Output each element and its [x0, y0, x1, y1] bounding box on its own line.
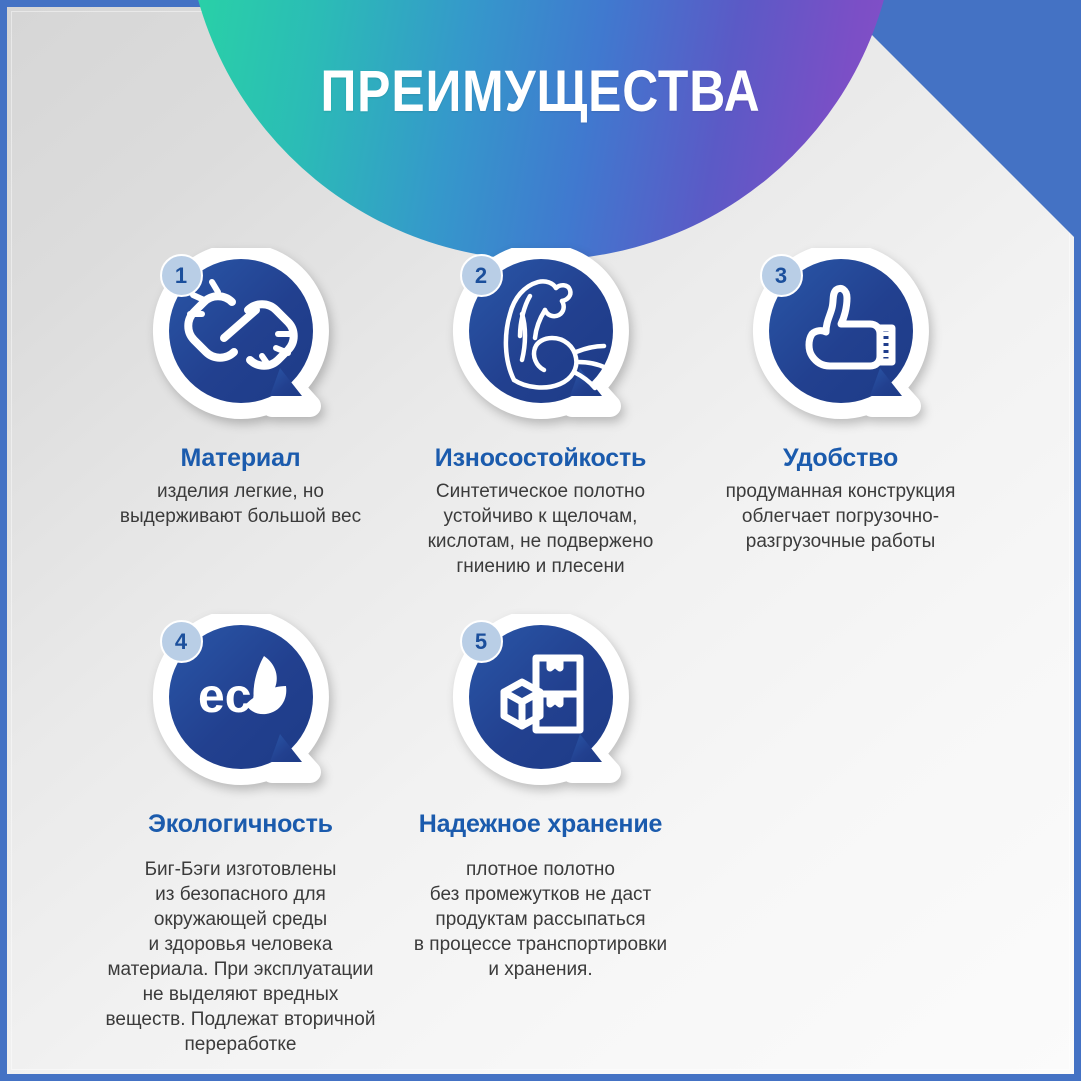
benefit-number-badge-3: 3: [760, 254, 803, 297]
benefit-number-badge-2: 2: [460, 254, 503, 297]
benefit-icon-wrap-1: 1: [152, 248, 330, 428]
benefit-card-5: 5 Надежное хранение плотное полотно без …: [391, 614, 691, 1057]
benefit-description-3: продуманная конструкция облегчает погруз…: [726, 479, 956, 554]
benefit-description-line: изделия легкие, но: [120, 479, 361, 504]
benefit-number-badge-5: 5: [460, 620, 503, 663]
benefits-row-top: 1 Материал изделия легкие, но выдерживаю…: [0, 248, 1081, 579]
benefit-description-line: веществ. Подлежат вторичной: [106, 1007, 376, 1032]
eco-icon-label: eco: [198, 670, 281, 723]
benefit-description-line: продуманная конструкция: [726, 479, 956, 504]
benefit-card-2: 2 Износостойкость Синтетическое полотно …: [391, 248, 691, 579]
benefit-icon-wrap-3: 3: [752, 248, 930, 428]
benefit-description-line: разгрузочные работы: [726, 529, 956, 554]
benefit-title-4: Экологичность: [148, 810, 333, 840]
benefit-description-line: Биг-Бэги изготовлены: [106, 857, 376, 882]
benefit-title-5: Надежное хранение: [419, 810, 662, 840]
benefit-number-badge-1: 1: [160, 254, 203, 297]
benefit-card-3: 3 Удобство продуманная конструкция облег…: [691, 248, 991, 579]
benefits-row-bottom: eco 4 Экологичность Биг-Бэги изготовлены…: [0, 614, 1081, 1057]
page-title: ПРЕИМУЩЕСТВА: [76, 58, 1006, 125]
benefit-card-4: eco 4 Экологичность Биг-Бэги изготовлены…: [91, 614, 391, 1057]
benefit-description-line: плотное полотно: [414, 857, 667, 882]
benefit-description-line: продуктам рассыпаться: [414, 907, 667, 932]
benefit-description-line: и здоровья человека: [106, 932, 376, 957]
benefit-number-badge-4: 4: [160, 620, 203, 663]
benefit-description-line: материала. При эксплуатации: [106, 957, 376, 982]
benefit-description-line: окружающей среды: [106, 907, 376, 932]
benefit-description-line: Синтетическое полотно: [428, 479, 654, 504]
benefit-icon-wrap-5: 5: [452, 614, 630, 794]
benefit-description-line: переработке: [106, 1032, 376, 1057]
benefit-title-line: хранение: [547, 810, 662, 838]
benefit-description-4: Биг-Бэги изготовлены из безопасного для …: [106, 857, 376, 1058]
benefit-description-line: выдерживают большой вес: [120, 504, 361, 529]
benefit-description-line: в процессе транспортировки: [414, 932, 667, 957]
benefit-description-line: гниению и плесени: [428, 554, 654, 579]
benefit-description-5: плотное полотно без промежутков не даст …: [414, 857, 667, 982]
benefit-description-2: Синтетическое полотно устойчиво к щелоча…: [428, 479, 654, 579]
benefit-description-line: не выделяют вредных: [106, 982, 376, 1007]
benefit-description-line: без промежутков не даст: [414, 882, 667, 907]
benefit-title-3: Удобство: [783, 444, 898, 474]
benefit-description-line: и хранения.: [414, 957, 667, 982]
row-spacer: [691, 614, 991, 1057]
benefit-description-line: из безопасного для: [106, 882, 376, 907]
benefit-description-line: облегчает погрузочно-: [726, 504, 956, 529]
benefit-description-line: кислотам, не подвержено: [428, 529, 654, 554]
benefit-description-line: устойчиво к щелочам,: [428, 504, 654, 529]
benefit-title-line: Надежное: [419, 810, 541, 838]
benefit-card-1: 1 Материал изделия легкие, но выдерживаю…: [91, 248, 391, 579]
infographic-poster: ПРЕИМУЩЕСТВА: [0, 0, 1081, 1081]
benefit-title-2: Износостойкость: [435, 444, 646, 474]
benefit-icon-wrap-4: eco 4: [152, 614, 330, 794]
benefit-icon-wrap-2: 2: [452, 248, 630, 428]
benefit-description-1: изделия легкие, но выдерживают большой в…: [120, 479, 361, 529]
benefit-title-1: Материал: [180, 444, 300, 474]
